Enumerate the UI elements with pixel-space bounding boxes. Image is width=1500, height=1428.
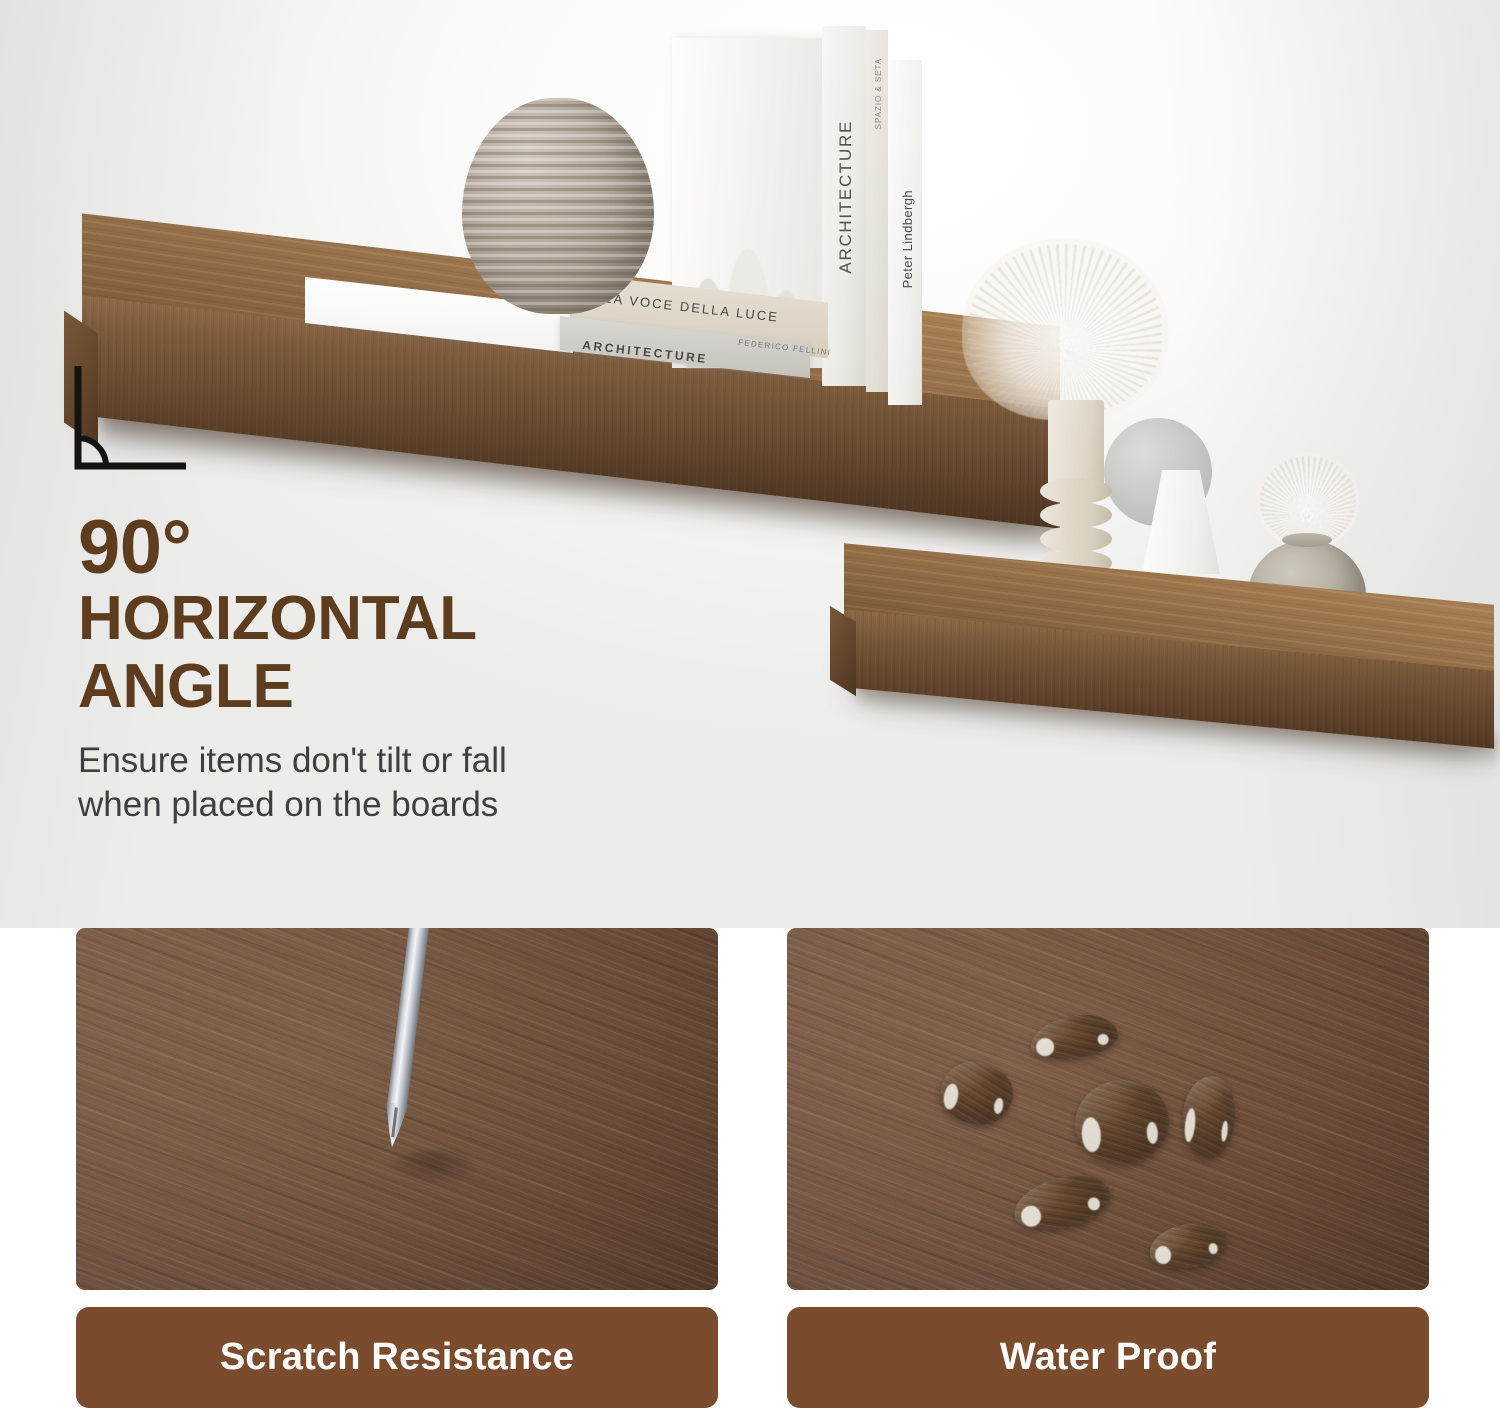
- candlestick-vase: [1038, 400, 1114, 590]
- ribbed-ceramic-vase: [462, 98, 654, 314]
- feature-card-water-proof: Water Proof: [787, 928, 1429, 1408]
- droplet-highlight: [993, 1097, 1005, 1114]
- candlestick-neck: [1048, 400, 1104, 484]
- droplet-highlight: [1035, 1037, 1055, 1057]
- headline-block: 90° HORIZONTAL ANGLE Ensure items don't …: [78, 512, 738, 827]
- candlestick-disc-1: [1040, 478, 1112, 504]
- headline-subtitle: Ensure items don't tilt or fall when pla…: [78, 739, 738, 827]
- droplet-highlight: [1183, 1108, 1196, 1143]
- feature-label-bar-scratch-resistance: Scratch Resistance: [76, 1307, 718, 1408]
- shelf-lower-end-cap: [830, 606, 856, 696]
- vase-mouth: [1282, 533, 1332, 547]
- droplet-highlight: [942, 1083, 960, 1111]
- right-angle-90-degree-marker: [72, 362, 188, 474]
- book-spine-text-lindbergh: Peter Lindbergh: [900, 190, 915, 288]
- book-spine-text-architecture: ARCHITECTURE: [836, 120, 856, 274]
- droplet-highlight: [1097, 1033, 1109, 1045]
- candlestick-disc-3: [1040, 526, 1112, 552]
- droplet-highlight: [1087, 1196, 1101, 1211]
- angle-icon: [72, 362, 188, 474]
- dried-plant-bouquet: [962, 238, 1168, 420]
- subtitle-line-2: when placed on the boards: [78, 783, 738, 827]
- feature-label-bar-water-proof: Water Proof: [787, 1307, 1429, 1408]
- droplet-highlight: [1081, 1117, 1102, 1153]
- feature-image-scratch-resistance: [76, 928, 718, 1290]
- candlestick-disc-2: [1040, 502, 1112, 528]
- screwdriver-shaft: [386, 928, 429, 1113]
- hero-section: ARCHITECTURE SPAZIO & SETA Peter Lindber…: [0, 0, 1500, 928]
- feature-image-water-proof: [787, 928, 1429, 1290]
- headline-main-line1: HORIZONTAL: [78, 587, 738, 651]
- feature-cards-section: Scratch Resistance Water Proof: [0, 928, 1500, 1428]
- headline-degree: 90°: [78, 512, 738, 583]
- droplet-highlight: [1019, 1204, 1043, 1229]
- subtitle-line-1: Ensure items don't tilt or fall: [78, 739, 738, 783]
- headline-main-line2: ANGLE: [78, 655, 738, 719]
- droplet-highlight: [1146, 1122, 1159, 1145]
- droplet-highlight: [1154, 1245, 1173, 1265]
- surface-dent-shadow: [392, 1150, 476, 1184]
- feature-label-text-scratch-resistance: Scratch Resistance: [220, 1336, 574, 1379]
- feature-card-scratch-resistance: Scratch Resistance: [76, 928, 718, 1408]
- droplet-highlight: [1221, 1120, 1229, 1142]
- book-spine-text-spazio: SPAZIO & SETA: [874, 58, 883, 129]
- floating-shelf-lower: [830, 600, 1500, 820]
- feature-label-text-water-proof: Water Proof: [1000, 1336, 1216, 1379]
- droplet-highlight: [1208, 1242, 1219, 1254]
